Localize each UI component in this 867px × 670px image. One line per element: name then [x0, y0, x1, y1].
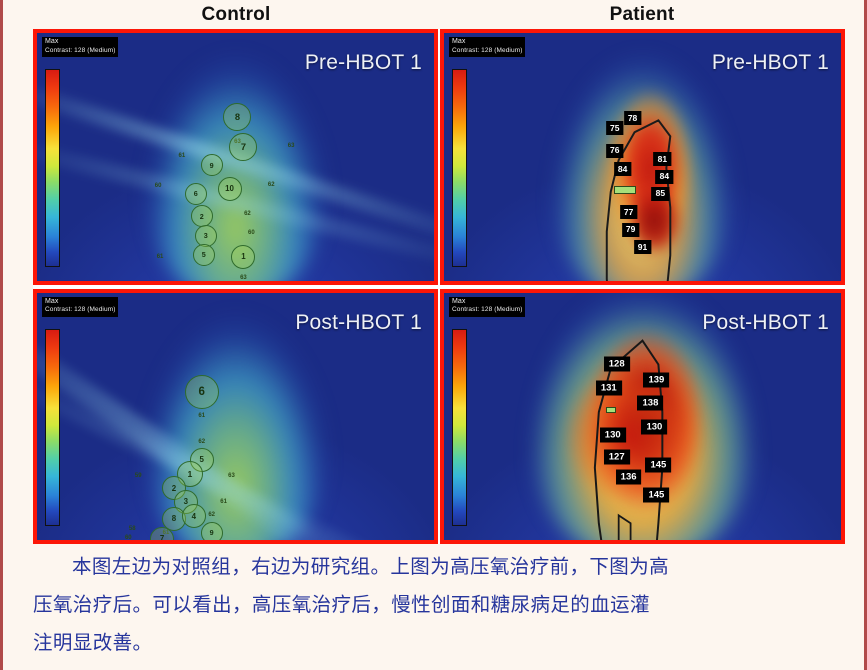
roi-circle-value: 62	[268, 182, 275, 188]
colorbar-max-label: Max	[452, 298, 522, 307]
roi-circle-marker[interactable]: 10	[218, 177, 242, 201]
figure-caption: 本图左边为对照组，右边为研究组。上图为高压氧治疗前，下图为高 压氧治疗后。可以看…	[33, 548, 845, 662]
roi-circle-value: 61	[220, 499, 227, 505]
roi-value-box[interactable]: 136	[616, 469, 642, 484]
roi-value-box[interactable]: 76	[606, 144, 623, 158]
roi-circle-value: 59	[135, 473, 142, 479]
colorbar-label: Max Contrast: 128 (Medium)	[449, 37, 525, 57]
colorbar	[45, 69, 60, 267]
panel-title: Post-HBOT 1	[702, 311, 829, 335]
roi-circle-marker[interactable]: 6	[185, 183, 207, 205]
hot-perfusion-core	[563, 367, 698, 506]
roi-value-box[interactable]: 85	[652, 187, 669, 201]
roi-value-box[interactable]: 139	[643, 373, 669, 388]
roi-value-box[interactable]: 128	[604, 357, 630, 372]
colorbar-contrast-label: Contrast: 128 (Medium)	[452, 306, 522, 315]
colorbar-max-label: Max	[45, 298, 115, 307]
panel-patient-pre[interactable]: Max Contrast: 128 (Medium) Pre-HBOT 1 78…	[440, 29, 845, 285]
roi-value-box[interactable]: 84	[614, 162, 631, 176]
column-headers: Control Patient	[33, 0, 845, 30]
panel-control-pre[interactable]: Max Contrast: 128 (Medium) Pre-HBOT 1 86…	[33, 29, 438, 285]
colorbar-max-label: Max	[452, 38, 522, 47]
roi-value-box[interactable]: 78	[624, 111, 641, 125]
roi-value-box[interactable]: 145	[643, 488, 669, 503]
roi-value-box[interactable]	[614, 186, 636, 194]
figure-page: Control Patient Max Contrast: 128 (Mediu…	[0, 0, 867, 670]
colorbar-contrast-label: Contrast: 128 (Medium)	[45, 306, 115, 315]
roi-circle-value: 61	[179, 153, 186, 159]
colorbar	[452, 329, 467, 527]
colorbar-max-label: Max	[45, 38, 115, 47]
caption-line: 本图左边为对照组，右边为研究组。上图为高压氧治疗前，下图为高	[33, 548, 845, 586]
roi-circle-value: 61	[198, 413, 205, 419]
roi-value-box[interactable]: 138	[638, 395, 664, 410]
caption-line: 压氧治疗后。可以看出，高压氧治疗后，慢性创面和糖尿病足的血运灌	[33, 586, 845, 624]
colorbar	[45, 329, 60, 527]
panel-control-post[interactable]: Max Contrast: 128 (Medium) Post-HBOT 1 6…	[33, 289, 438, 545]
roi-circle-value: 60	[155, 183, 162, 189]
roi-circle-value: 58	[129, 526, 136, 532]
panel-title: Pre-HBOT 1	[305, 51, 422, 75]
roi-circle-marker[interactable]: 5	[193, 244, 215, 266]
roi-value-box[interactable]: 145	[645, 457, 671, 472]
roi-value-box[interactable]: 91	[634, 240, 651, 254]
roi-circle-value: 62	[244, 211, 251, 217]
roi-value-box[interactable]: 75	[606, 121, 623, 135]
roi-circle-marker[interactable]: 1	[231, 245, 255, 269]
colorbar-label: Max Contrast: 128 (Medium)	[42, 37, 118, 57]
colorbar	[452, 69, 467, 267]
roi-value-box[interactable]	[606, 407, 616, 413]
perfusion-panel-grid: Max Contrast: 128 (Medium) Pre-HBOT 1 86…	[33, 29, 845, 544]
colorbar-contrast-label: Contrast: 128 (Medium)	[452, 47, 522, 56]
panel-title: Pre-HBOT 1	[712, 51, 829, 75]
roi-value-box[interactable]: 79	[622, 223, 639, 237]
roi-value-box[interactable]: 130	[600, 427, 626, 442]
roi-circle-value: 60	[248, 230, 255, 236]
roi-value-box[interactable]: 81	[654, 152, 671, 166]
caption-line: 注明显改善。	[33, 624, 845, 662]
roi-circle-value: 62	[208, 512, 215, 518]
roi-value-box[interactable]: 131	[596, 380, 622, 395]
roi-circle-value: 61	[157, 254, 164, 260]
colorbar-label: Max Contrast: 128 (Medium)	[42, 297, 118, 317]
roi-circle-marker[interactable]: 2	[191, 205, 213, 227]
roi-value-box[interactable]: 130	[641, 420, 667, 435]
roi-value-box[interactable]: 127	[604, 450, 630, 465]
roi-circle-marker[interactable]: 8	[223, 103, 251, 131]
roi-circle-marker[interactable]: 6	[185, 375, 219, 409]
panel-title: Post-HBOT 1	[295, 311, 422, 335]
column-header-control: Control	[33, 0, 439, 30]
panel-patient-post[interactable]: Max Contrast: 128 (Medium) Post-HBOT 1 1…	[440, 289, 845, 545]
roi-circle-value: 62	[198, 439, 205, 445]
roi-value-box[interactable]: 84	[656, 170, 673, 184]
colorbar-contrast-label: Contrast: 128 (Medium)	[45, 47, 115, 56]
roi-circle-marker[interactable]: 7	[150, 527, 174, 544]
roi-circle-marker[interactable]: 9	[201, 154, 223, 176]
roi-circle-marker[interactable]: 7	[229, 133, 257, 161]
colorbar-label: Max Contrast: 128 (Medium)	[449, 297, 525, 317]
column-header-patient: Patient	[439, 0, 845, 30]
roi-circle-value: 60	[125, 535, 132, 541]
roi-circle-value: 63	[240, 275, 247, 281]
roi-value-box[interactable]: 77	[620, 205, 637, 219]
roi-circle-value: 63	[228, 473, 235, 479]
roi-circle-value: 63	[288, 143, 295, 149]
roi-circle-marker[interactable]: 9	[201, 522, 223, 544]
